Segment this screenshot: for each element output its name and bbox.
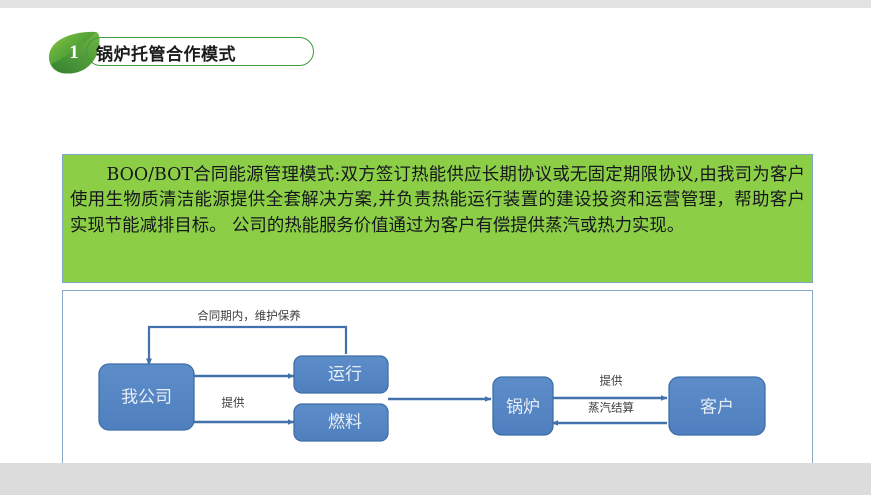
node-customer-label: 客户 [700, 398, 734, 418]
bottom-background-strip [0, 463, 871, 495]
node-boiler-label: 锅炉 [506, 398, 540, 418]
node-operation[interactable]: 运行 [294, 356, 388, 393]
description-text: BOO/BOT合同能源管理模式:双方签订热能供应长期协议或无固定期限协议,由我司… [70, 163, 805, 239]
slide-canvas: 1 锅炉托管合作模式 BOO/BOT合同能源管理模式:双方签订热能供应长期协议或… [0, 8, 871, 463]
node-boiler[interactable]: 锅炉 [493, 377, 553, 435]
process-diagram: 合同期内，维护保养 提供 提供 蒸汽结算 我公司 运行 [63, 291, 812, 470]
edge-label-steam-settlement: 蒸汽结算 [588, 401, 634, 415]
edge-label-boiler-supply: 提供 [600, 374, 623, 388]
edge-label-supply-fuel: 提供 [222, 396, 245, 410]
heading-number: 1 [46, 30, 102, 74]
top-background-strip [0, 0, 871, 8]
node-customer[interactable]: 客户 [669, 377, 765, 435]
node-fuel[interactable]: 燃料 [294, 404, 388, 441]
node-operation-label: 运行 [328, 365, 362, 385]
page-title: 锅炉托管合作模式 [96, 40, 236, 65]
node-fuel-label: 燃料 [328, 413, 362, 433]
node-company[interactable]: 我公司 [99, 364, 194, 430]
slide-heading: 1 锅炉托管合作模式 [46, 30, 316, 74]
edge-label-maintenance: 合同期内，维护保养 [197, 309, 301, 323]
description-box: BOO/BOT合同能源管理模式:双方签订热能供应长期协议或无固定期限协议,由我司… [62, 154, 813, 283]
node-company-label: 我公司 [121, 388, 172, 408]
process-diagram-box: 合同期内，维护保养 提供 提供 蒸汽结算 我公司 运行 [62, 290, 813, 471]
